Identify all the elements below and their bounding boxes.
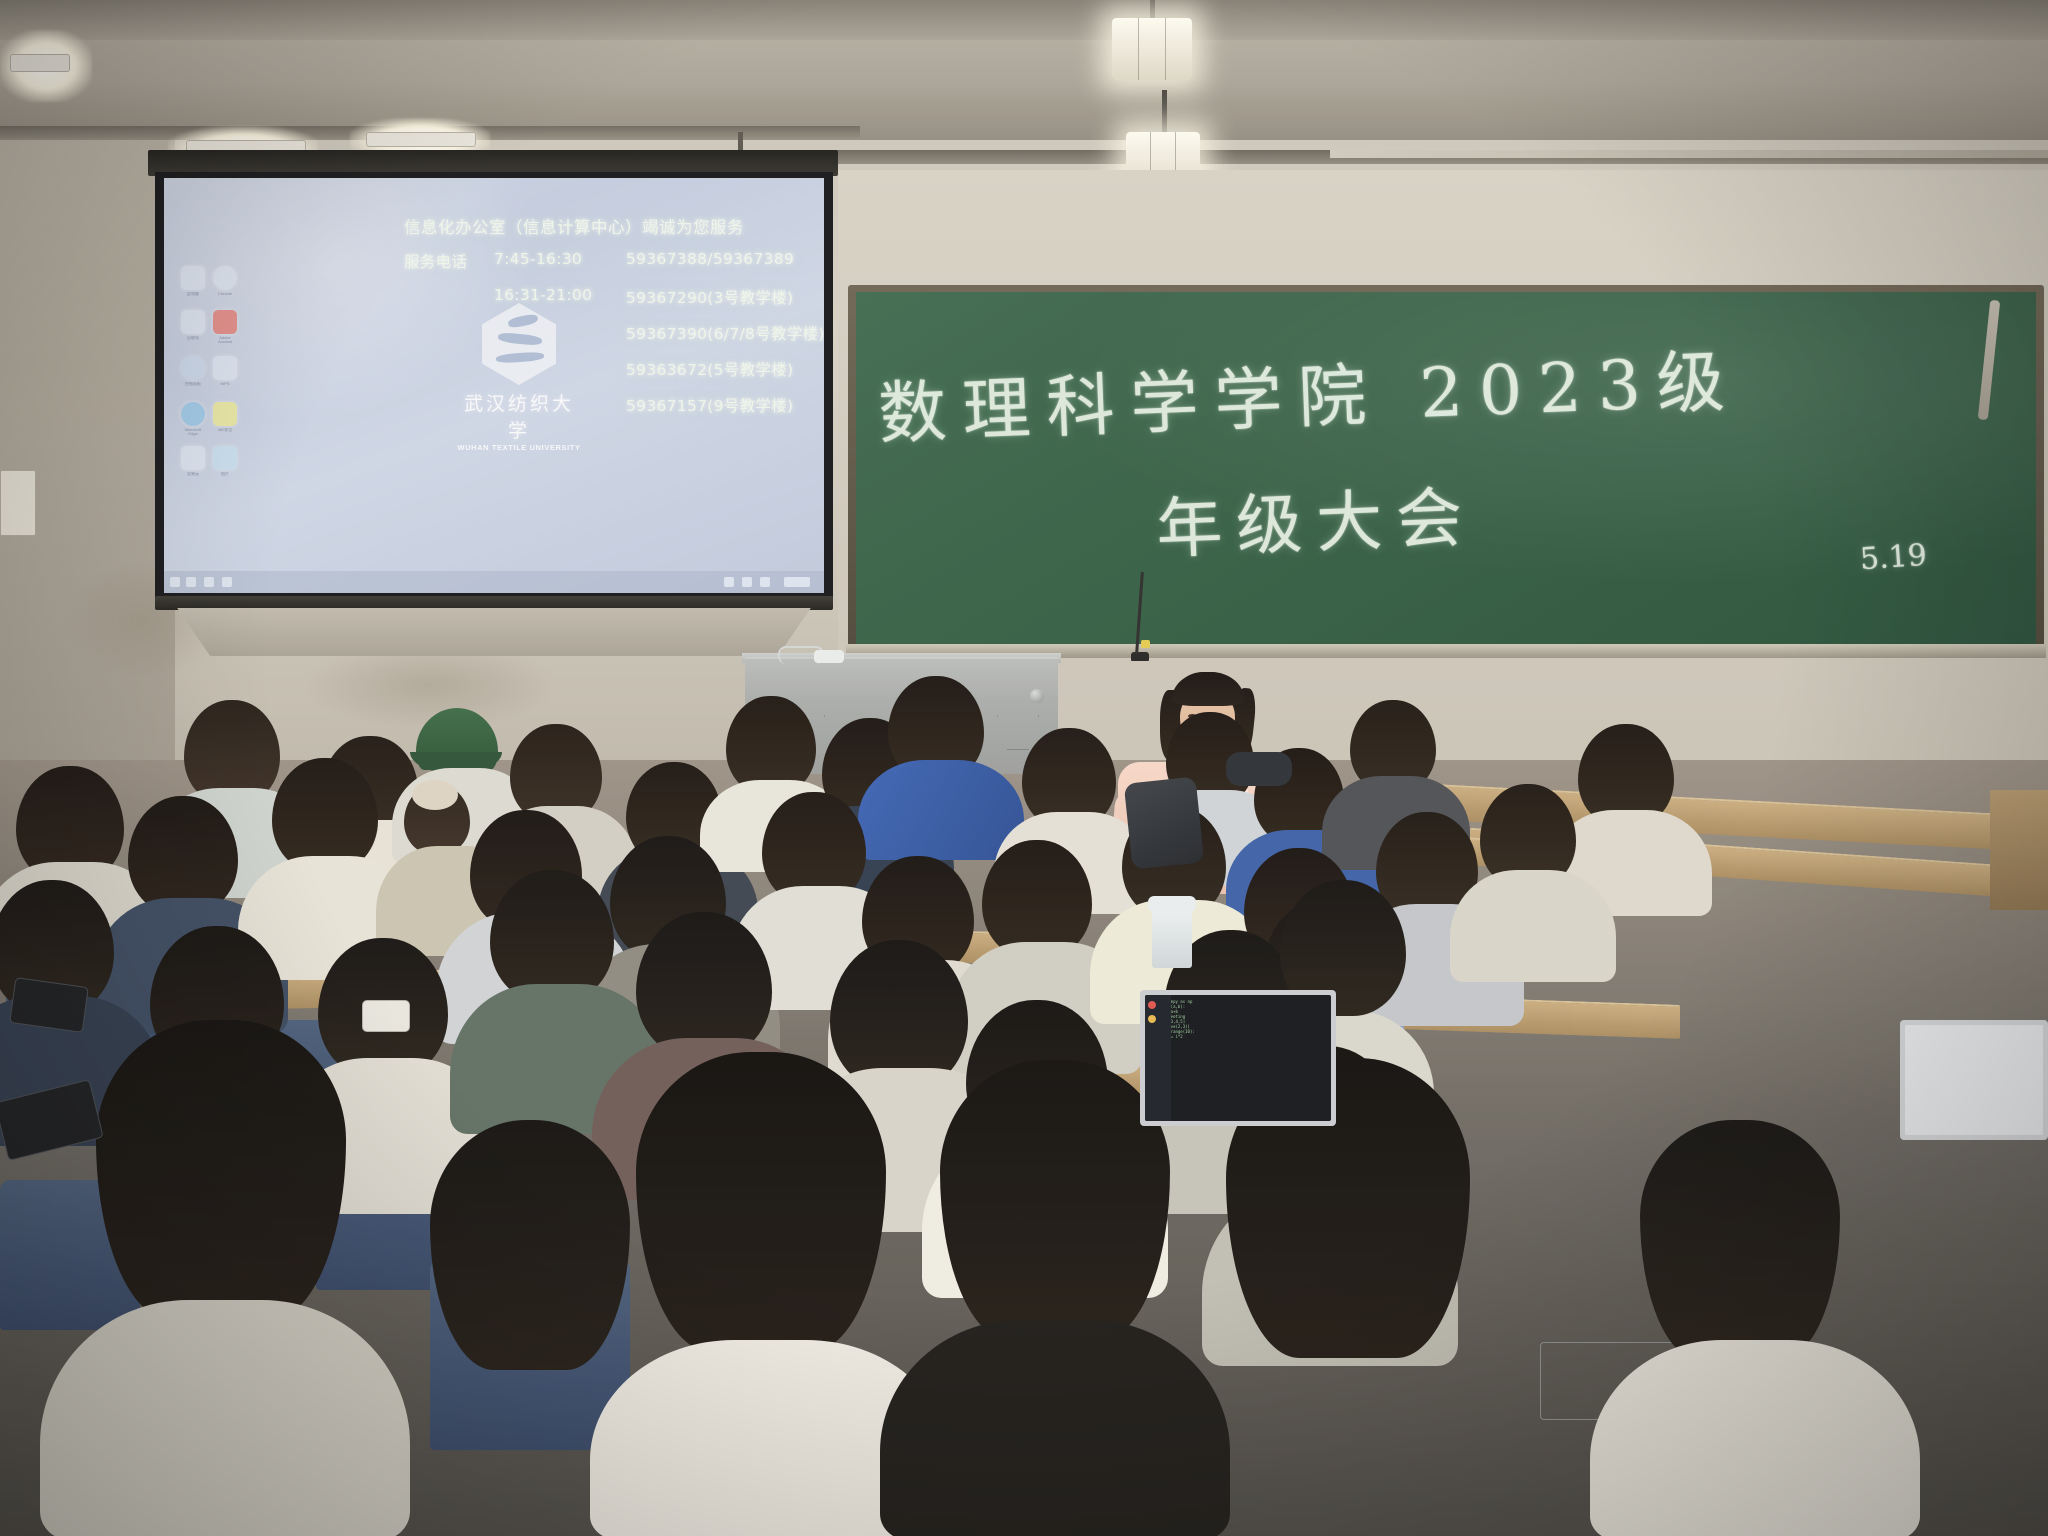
pendant-rod [1162, 90, 1167, 132]
slide-number-1: 59367290(3号教学楼) [626, 286, 793, 308]
lecture-hall-photo: 此电脑 Chrome 回收站 Adobe Acrobat 控制面板 WPS Mi… [0, 0, 2048, 1536]
audience-head-foreground [636, 1052, 886, 1352]
wps-icon [213, 356, 237, 380]
desktop-icon-2[interactable]: 回收站 [180, 310, 206, 340]
cloud-icon [181, 446, 205, 470]
blackboard-line-2: 年级大会 [1154, 464, 1477, 572]
start-icon[interactable] [170, 577, 180, 587]
clock-display[interactable] [784, 577, 810, 587]
desktop-icon-6[interactable]: Microsoft Edge [180, 402, 206, 437]
laptop-screen[interactable]: import numpy as np def solve(a,b): retur… [1145, 995, 1331, 1121]
blackboard-line-1: 数理科学学院 2023级 [876, 325, 1742, 457]
podium-remote [814, 650, 844, 663]
edge-icon [181, 402, 205, 426]
ceiling-conduit [1330, 150, 2048, 158]
search-icon[interactable] [186, 577, 196, 587]
audience-head [490, 870, 614, 1002]
audience-head [982, 840, 1092, 958]
bottle-cap [1148, 896, 1196, 912]
window-minimize-icon[interactable] [1148, 1015, 1156, 1023]
audience-shoulders [858, 760, 1024, 860]
ceiling-lamp [10, 54, 70, 72]
microphone-clip [1141, 640, 1150, 648]
logo-name-en: WUHAN TEXTILE UNIVERSITY [454, 443, 584, 452]
water-bottle [1152, 904, 1192, 968]
slide-number-3: 59363672(5号教学楼) [626, 358, 793, 380]
desktop-icon-9[interactable]: 图片 [212, 446, 238, 476]
laptop-screen[interactable] [1905, 1025, 2043, 1135]
paper-note [362, 1000, 410, 1032]
ceiling-lamp [366, 132, 476, 147]
audience-head-foreground [940, 1060, 1170, 1340]
projection-screen[interactable]: 此电脑 Chrome 回收站 Adobe Acrobat 控制面板 WPS Mi… [164, 178, 824, 593]
logo-name-cn: 武汉纺织大学 [454, 389, 584, 443]
chrome-icon [213, 266, 237, 290]
folder-icon[interactable] [204, 577, 214, 587]
logo-hex-icon [482, 303, 556, 385]
desktop-icon-5[interactable]: WPS [212, 356, 238, 386]
desktop-icon-7[interactable]: 360安全 [212, 402, 238, 432]
audience-head [636, 912, 772, 1058]
desktop-icon-3[interactable]: Adobe Acrobat [212, 310, 238, 345]
slide-number-2: 59367390(6/7/8号教学楼) [626, 322, 824, 344]
shield-icon [213, 402, 237, 426]
pictures-folder-icon [213, 446, 237, 470]
this-pc-icon [181, 266, 205, 290]
slide-heading: 信息化办公室（信息计算中心）竭诚为您服务 [404, 214, 744, 238]
audience-head-foreground [1640, 1120, 1840, 1360]
window-close-icon[interactable] [1148, 1001, 1156, 1009]
audience-head [272, 758, 378, 872]
ceiling-slab [0, 0, 2048, 40]
desktop-icon-8[interactable]: 坚果云 [180, 446, 206, 476]
folded-umbrella [1226, 752, 1292, 786]
audience-shoulders [1450, 870, 1616, 982]
screen-bottom-bar [155, 596, 833, 610]
network-icon[interactable] [742, 577, 752, 587]
tray-icon[interactable] [724, 577, 734, 587]
university-logo: 武汉纺织大学 WUHAN TEXTILE UNIVERSITY [454, 303, 584, 452]
control-panel-icon [181, 356, 205, 380]
slide-time-1: 16:31-21:00 [494, 286, 592, 304]
hair-clip [412, 780, 458, 810]
podium-knob[interactable] [1030, 689, 1044, 703]
desktop-taskbar[interactable] [164, 571, 824, 593]
desktop-icon-0[interactable]: 此电脑 [180, 266, 206, 296]
microphone-base [1131, 652, 1149, 661]
screen-support-arm [164, 608, 824, 656]
wall-sign [0, 470, 36, 536]
pendant-lamp [1112, 18, 1192, 80]
acrobat-icon [213, 310, 237, 334]
recycle-bin-icon [181, 310, 205, 334]
blackboard: 数理科学学院 2023级 年级大会 5.19 [856, 292, 2036, 644]
desktop-icon-4[interactable]: 控制面板 [180, 356, 206, 386]
podium-cup-holder [997, 715, 1039, 750]
audience-head-foreground [430, 1120, 630, 1370]
backpack [1124, 776, 1205, 869]
slide-number-0: 59367388/59367389 [626, 250, 794, 268]
audience-shoulders [880, 1320, 1230, 1536]
slide-service-phone-label: 服务电话 [404, 250, 467, 272]
audience-head [128, 796, 238, 914]
blackboard-date: 5.19 [1859, 538, 1928, 578]
audience-shoulders [1590, 1340, 1920, 1536]
browser-icon[interactable] [222, 577, 232, 587]
audience-shoulders [40, 1300, 410, 1536]
desk-end-panel [1990, 790, 2048, 910]
desktop-icon-1[interactable]: Chrome [212, 266, 238, 296]
audience-head-foreground [96, 1020, 346, 1320]
slide-time-0: 7:45-16:30 [494, 250, 582, 268]
slide-number-4: 59367157(9号教学楼) [626, 394, 793, 416]
volume-icon[interactable] [760, 577, 770, 587]
